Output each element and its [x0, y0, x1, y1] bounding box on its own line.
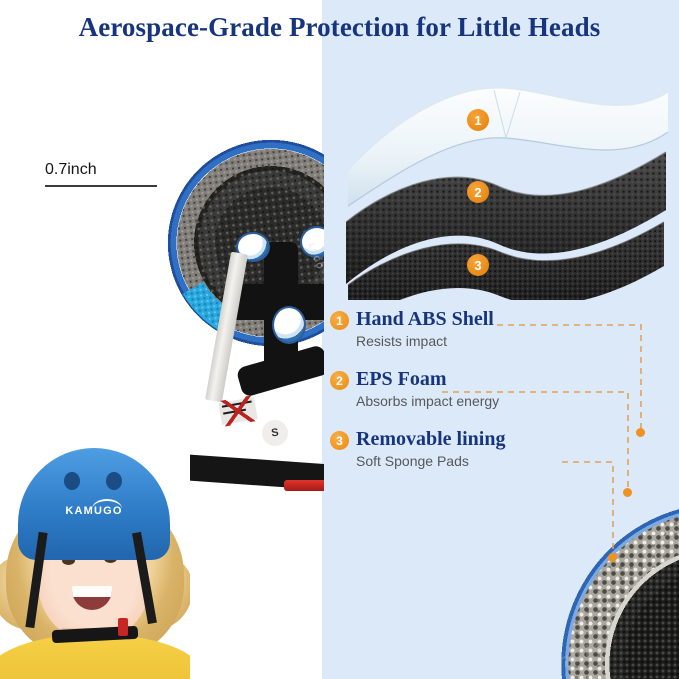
child-wearing-helmet-photo: KAMUGO	[0, 428, 190, 679]
connector-endpoint-1	[636, 428, 645, 437]
legend-item-2[interactable]: 2 EPS Foam Absorbs impact energy	[330, 368, 660, 411]
strap-buckle	[118, 618, 128, 636]
legend-badge-1: 1	[330, 311, 349, 330]
exploded-layers-diagram: 1 2 3	[334, 70, 679, 300]
vent-hole	[274, 308, 304, 342]
legend-item-3[interactable]: 3 Removable lining Soft Sponge Pads	[330, 428, 660, 471]
connector-endpoint-3	[608, 553, 617, 562]
rear-reflector	[284, 480, 324, 491]
legend-title-1: Hand ABS Shell	[356, 308, 660, 331]
page-title: Aerospace-Grade Protection for Little He…	[0, 12, 679, 43]
layers-svg	[334, 70, 679, 300]
legend-badge-2: 2	[330, 371, 349, 390]
connector-endpoint-2	[623, 488, 632, 497]
legend-subtitle-1: Resists impact	[356, 332, 660, 351]
child-teeth	[72, 586, 112, 597]
layer-badge-1: 1	[467, 109, 489, 131]
legend-badge-3: 3	[330, 431, 349, 450]
helmet-vent-hole	[106, 472, 122, 490]
layer-badge-3: 3	[467, 254, 489, 276]
legend-subtitle-3: Soft Sponge Pads	[356, 452, 660, 471]
thickness-measurement-line	[45, 185, 157, 187]
legend-title-3: Removable lining	[356, 428, 660, 451]
size-marker: S	[260, 418, 289, 447]
infographic-root: S LOGO LOGO 0.7inch KAMUGO Aerospace-Gra…	[0, 0, 679, 679]
layer-badge-2: 2	[467, 181, 489, 203]
helmet-vent-hole	[64, 472, 80, 490]
thickness-measurement-label: 0.7inch	[45, 161, 97, 179]
helmet-brand-text: KAMUGO	[46, 505, 142, 517]
care-label	[218, 397, 257, 425]
legend-item-1[interactable]: 1 Hand ABS Shell Resists impact	[330, 308, 660, 351]
legend-title-2: EPS Foam	[356, 368, 660, 391]
legend-list: 1 Hand ABS Shell Resists impact 2 EPS Fo…	[330, 308, 660, 488]
legend-subtitle-2: Absorbs impact energy	[356, 392, 660, 411]
